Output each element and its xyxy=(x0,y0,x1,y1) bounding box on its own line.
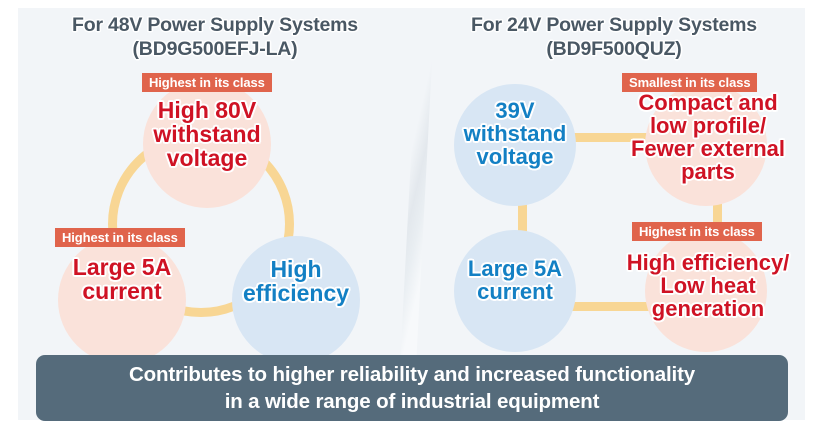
right-panel-title: For 24V Power Supply Systems xyxy=(471,14,757,36)
summary-banner-line-1: Contributes to higher reliability and in… xyxy=(129,361,695,388)
right-node-label-1: 39V withstand voltage xyxy=(446,100,584,169)
summary-banner-line-2: in a wide range of industrial equipment xyxy=(225,388,600,415)
right-panel-heading: For 24V Power Supply Systems (BD9F500QUZ… xyxy=(424,13,804,61)
right-node-label-4: High efficiency/ Low heat generation xyxy=(596,252,820,321)
left-node-label-2: Large 5A current xyxy=(48,256,196,304)
right-panel-part-number: (BD9F500QUZ) xyxy=(424,37,804,61)
left-node-badge-2: Highest in its class xyxy=(55,228,185,247)
right-node-label-3: Large 5A current xyxy=(446,258,584,304)
right-node-label-2: Compact and low profile/ Fewer external … xyxy=(596,92,820,184)
right-node-badge-2: Smallest in its class xyxy=(622,73,757,92)
infographic-root: For 48V Power Supply Systems (BD9G500EFJ… xyxy=(0,0,823,433)
left-panel-heading: For 48V Power Supply Systems (BD9G500EFJ… xyxy=(30,13,400,61)
left-node-label-1: High 80V withstand voltage xyxy=(133,99,281,171)
left-panel-title: For 48V Power Supply Systems xyxy=(72,14,358,36)
summary-banner: Contributes to higher reliability and in… xyxy=(36,355,788,421)
right-node-badge-4: Highest in its class xyxy=(632,222,762,241)
left-node-label-3: High efficiency xyxy=(222,258,370,306)
left-node-badge-1: Highest in its class xyxy=(142,73,272,92)
left-panel-part-number: (BD9G500EFJ-LA) xyxy=(30,37,400,61)
